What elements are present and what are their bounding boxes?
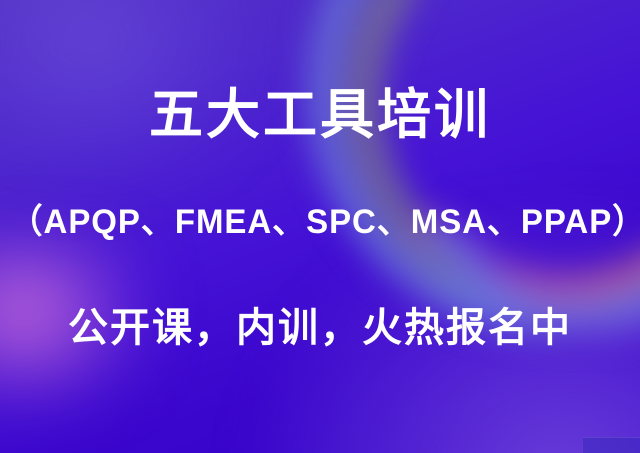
banner-headline: 五大工具培训 xyxy=(0,86,640,144)
promo-banner: 五大工具培训 （APQP、FMEA、SPC、MSA、PPAP） 公开课，内训，火… xyxy=(0,0,640,453)
banner-callout: 公开课，内训，火热报名中 xyxy=(0,306,640,351)
banner-content: 五大工具培训 （APQP、FMEA、SPC、MSA、PPAP） 公开课，内训，火… xyxy=(0,0,640,453)
banner-subline: （APQP、FMEA、SPC、MSA、PPAP） xyxy=(10,204,631,241)
